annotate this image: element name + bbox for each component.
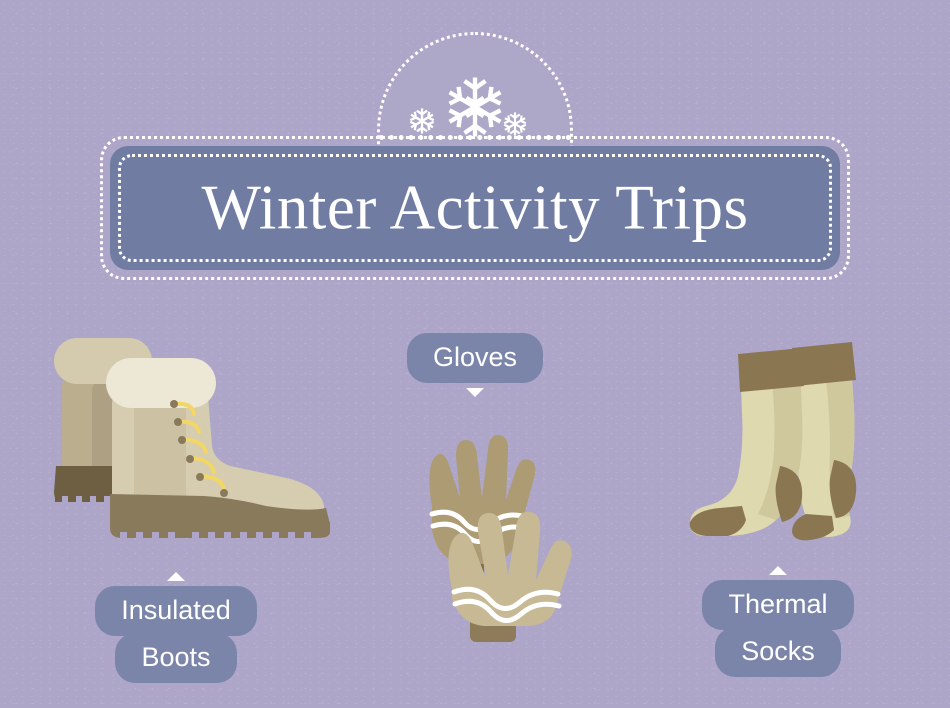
label-line: Socks: [715, 627, 841, 677]
label-line: Boots: [115, 633, 236, 683]
label-line: Insulated: [95, 586, 257, 636]
label-gloves[interactable]: Gloves: [377, 333, 573, 397]
front-sock: [690, 348, 804, 536]
label-thermal-socks[interactable]: Thermal Socks: [680, 566, 876, 677]
insulated-boots-illustration: [34, 326, 334, 548]
snowflake-arch: [377, 32, 573, 140]
poster-canvas: Winter Activity Trips: [0, 0, 950, 708]
gloves-illustration: [404, 412, 594, 648]
thermal-socks-illustration: [684, 318, 874, 558]
front-boot: [106, 358, 330, 540]
pointer-down-icon: [466, 388, 484, 397]
pointer-up-icon: [167, 572, 185, 581]
snowflake-icon-small-left: [409, 108, 435, 134]
label-line: Thermal: [702, 580, 853, 630]
snowflake-icon-small-right: [503, 112, 527, 136]
title-banner: Winter Activity Trips: [100, 136, 850, 280]
label-insulated-boots[interactable]: Insulated Boots: [78, 572, 274, 683]
page-title: Winter Activity Trips: [100, 177, 850, 240]
label-line: Gloves: [407, 333, 543, 383]
snowflake-icon-large: [444, 76, 506, 138]
pointer-up-icon: [769, 566, 787, 575]
